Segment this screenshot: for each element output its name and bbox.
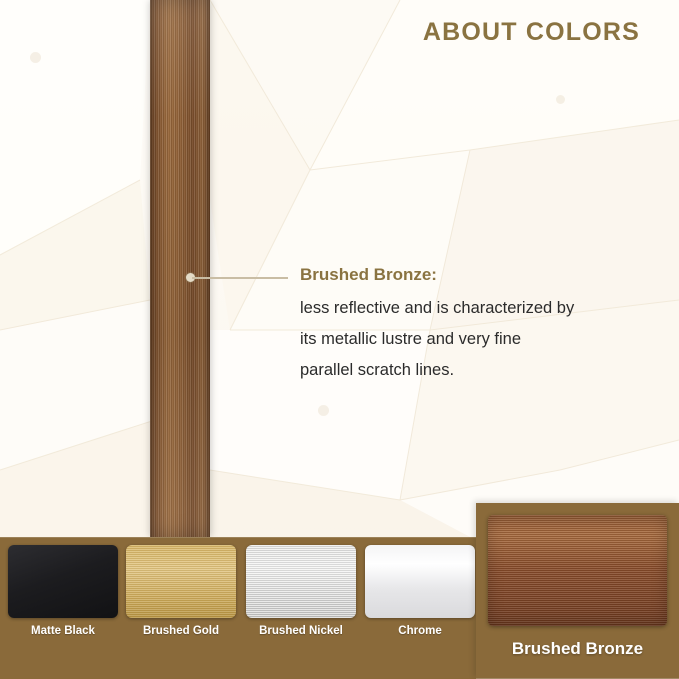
swatch-brushed-nickel[interactable] [246, 545, 356, 618]
featured-swatch-brushed-bronze[interactable]: Brushed Bronze [476, 503, 679, 679]
page-title: ABOUT COLORS [423, 18, 640, 47]
swatch-matte-black[interactable] [8, 545, 118, 618]
callout-text-block: Brushed Bronze: less reflective and is c… [300, 264, 650, 386]
decorative-dot [318, 405, 329, 416]
brushed-bronze-product-bar [150, 0, 210, 537]
callout-leader-line [186, 276, 288, 279]
callout-body-line-3: parallel scratch lines. [300, 355, 650, 386]
swatch-label-matte-black: Matte Black [8, 625, 118, 637]
decorative-dot [556, 95, 565, 104]
callout-body-line-2: its metallic lustre and very fine [300, 324, 650, 355]
callout-body-line-1: less reflective and is characterized by [300, 293, 650, 324]
swatch-chrome[interactable] [365, 545, 475, 618]
swatch-brushed-gold[interactable] [126, 545, 236, 618]
swatch-label-brushed-nickel: Brushed Nickel [246, 625, 356, 637]
swatch-label-brushed-gold: Brushed Gold [126, 625, 236, 637]
decorative-dot [30, 52, 41, 63]
swatch-brushed-bronze[interactable] [488, 515, 667, 626]
callout-line [192, 277, 288, 279]
swatch-label-brushed-bronze: Brushed Bronze [476, 639, 679, 659]
swatch-label-chrome: Chrome [365, 625, 475, 637]
callout-heading: Brushed Bronze: [300, 264, 650, 285]
infographic-canvas: ABOUT COLORS Brushed Bronze: less reflec… [0, 0, 679, 679]
